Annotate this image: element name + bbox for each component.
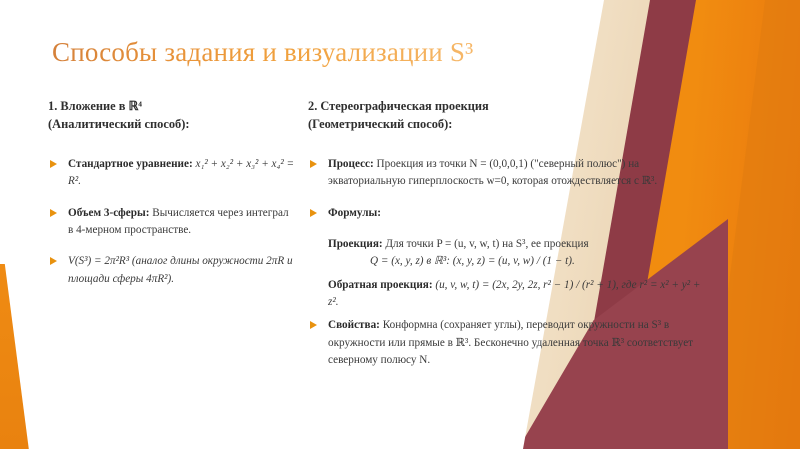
left-heading-line-2: (Аналитический способ): xyxy=(48,116,296,134)
right-heading-line-1: 2. Стереографическая проекция xyxy=(308,98,708,116)
list-item: Стандартное уравнение: x₁² + x₂² + x₃² +… xyxy=(48,156,296,191)
inverse-projection-lead: Обратная проекция: xyxy=(328,279,433,291)
list-item: Формулы: xyxy=(308,205,708,222)
list-item: Объем 3-сферы: Вычисляется через интегра… xyxy=(48,205,296,240)
bullet-body: Проекция из точки N = (0,0,0,1) ("северн… xyxy=(328,158,657,187)
right-bullet-list: Процесс: Проекция из точки N = (0,0,0,1)… xyxy=(308,156,708,222)
list-item: Процесс: Проекция из точки N = (0,0,0,1)… xyxy=(308,156,708,191)
left-column-heading: 1. Вложение в ℝ⁴ (Аналитический способ): xyxy=(48,98,296,134)
right-bullet-list-continued: Свойства: Конформна (сохраняет углы), пе… xyxy=(308,317,708,369)
triangle-bullet-icon xyxy=(50,160,57,168)
right-column: 2. Стереографическая проекция (Геометрич… xyxy=(308,98,708,384)
bullet-lead: Объем 3-сферы: xyxy=(68,207,149,219)
triangle-bullet-icon xyxy=(310,321,317,329)
left-column: 1. Вложение в ℝ⁴ (Аналитический способ):… xyxy=(48,98,296,384)
bullet-lead: Процесс: xyxy=(328,158,374,170)
two-column-body: 1. Вложение в ℝ⁴ (Аналитический способ):… xyxy=(48,98,738,384)
projection-lead: Проекция: xyxy=(328,238,383,250)
bullet-body: V(S³) = 2π²R³ (аналог длины окружности 2… xyxy=(68,255,293,284)
triangle-bullet-icon xyxy=(310,160,317,168)
triangle-bullet-icon xyxy=(50,209,57,217)
left-bullet-list: Стандартное уравнение: x₁² + x₂² + x₃² +… xyxy=(48,156,296,288)
projection-equation: Q = (x, y, z) в ℝ³: (x, y, z) = (u, v, w… xyxy=(328,253,708,270)
projection-text: Для точки P = (u, v, w, t) на S³, ее про… xyxy=(383,238,589,250)
triangle-bullet-icon xyxy=(50,257,57,265)
inverse-projection-block: Обратная проекция: (u, v, w, t) = (2x, 2… xyxy=(308,277,708,312)
slide-title: Способы задания и визуализации S³ xyxy=(52,38,473,68)
bullet-lead: Формулы: xyxy=(328,207,381,219)
bullet-lead: Стандартное уравнение: xyxy=(68,158,193,170)
triangle-bullet-icon xyxy=(310,209,317,217)
left-heading-line-1: 1. Вложение в ℝ⁴ xyxy=(48,98,296,116)
bullet-body: Конформна (сохраняет углы), переводит ок… xyxy=(328,319,693,366)
projection-formula-block: Проекция: Для точки P = (u, v, w, t) на … xyxy=(308,236,708,271)
slide-content: Способы задания и визуализации S³ 1. Вло… xyxy=(0,0,800,449)
right-heading-line-2: (Геометрический способ): xyxy=(308,116,708,134)
list-item: V(S³) = 2π²R³ (аналог длины окружности 2… xyxy=(48,253,296,288)
presentation-slide: Способы задания и визуализации S³ 1. Вло… xyxy=(0,0,800,449)
bullet-lead: Свойства: xyxy=(328,319,380,331)
list-item: Свойства: Конформна (сохраняет углы), пе… xyxy=(308,317,708,369)
right-column-heading: 2. Стереографическая проекция (Геометрич… xyxy=(308,98,708,134)
